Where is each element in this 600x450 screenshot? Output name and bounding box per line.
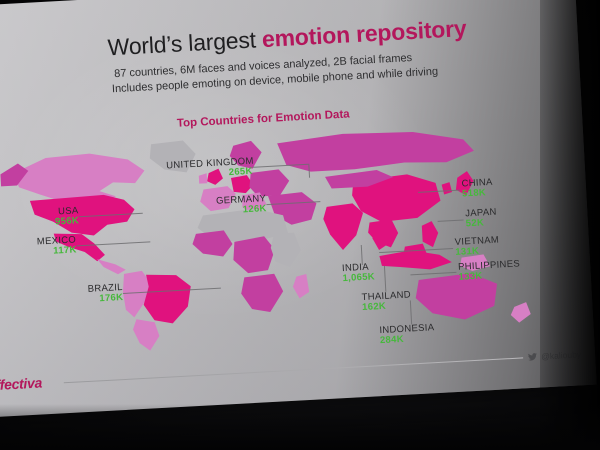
map-label-value: 284K	[380, 333, 435, 346]
map-label-japan: JAPAN 52K	[465, 208, 497, 230]
map-label-vietnam: VIETNAM 131K	[455, 236, 500, 258]
country-centam	[97, 258, 126, 275]
projected-slide: World’s largest emotion repository 87 co…	[0, 0, 597, 426]
map-label-philippines: PHILIPPINES 133K	[458, 259, 521, 282]
map-label-indonesia: INDONESIA 284K	[379, 323, 435, 346]
country-russia	[277, 127, 475, 174]
map-label-usa: USA 956K	[12, 206, 79, 229]
title-accent-text: emotion repository	[261, 15, 467, 52]
country-philippines	[422, 221, 439, 248]
country-madagascar	[292, 274, 309, 299]
map-label-china: CHINA 518K	[461, 178, 493, 200]
country-newzealand	[510, 302, 531, 323]
affectiva-logo: Affectiva	[0, 374, 42, 393]
map-label-brazil: BRAZIL 176K	[53, 283, 124, 307]
slide-content: World’s largest emotion repository 87 co…	[0, 0, 597, 418]
footer-divider	[64, 357, 523, 383]
map-label-value: 518K	[462, 188, 494, 200]
map-label-mexico: MEXICO 117K	[0, 235, 77, 259]
map-label-germany: GERMANY 126K	[198, 194, 267, 218]
country-india	[323, 203, 365, 251]
twitter-bird-icon	[528, 353, 537, 361]
slide-surface: World’s largest emotion repository 87 co…	[0, 0, 597, 418]
map-label-india: INDIA 1,065K	[342, 262, 375, 284]
title-plain-text: World’s largest	[107, 26, 263, 60]
map-label-value: 1,065K	[342, 272, 375, 284]
country-argentina-chile	[132, 318, 160, 351]
map-landmasses	[0, 122, 532, 358]
country-central-africa	[232, 236, 276, 274]
room-shadow-bottom	[0, 404, 600, 450]
country-brazil	[142, 272, 193, 325]
page-title: World’s largest emotion repository	[107, 15, 467, 61]
country-southern-africa	[240, 273, 284, 313]
map-label-thailand: THAILAND 162K	[361, 290, 411, 313]
country-east-africa	[270, 232, 302, 268]
country-korea	[442, 182, 453, 195]
map-label-value: 52K	[466, 218, 498, 230]
room-shadow-right	[540, 0, 600, 450]
